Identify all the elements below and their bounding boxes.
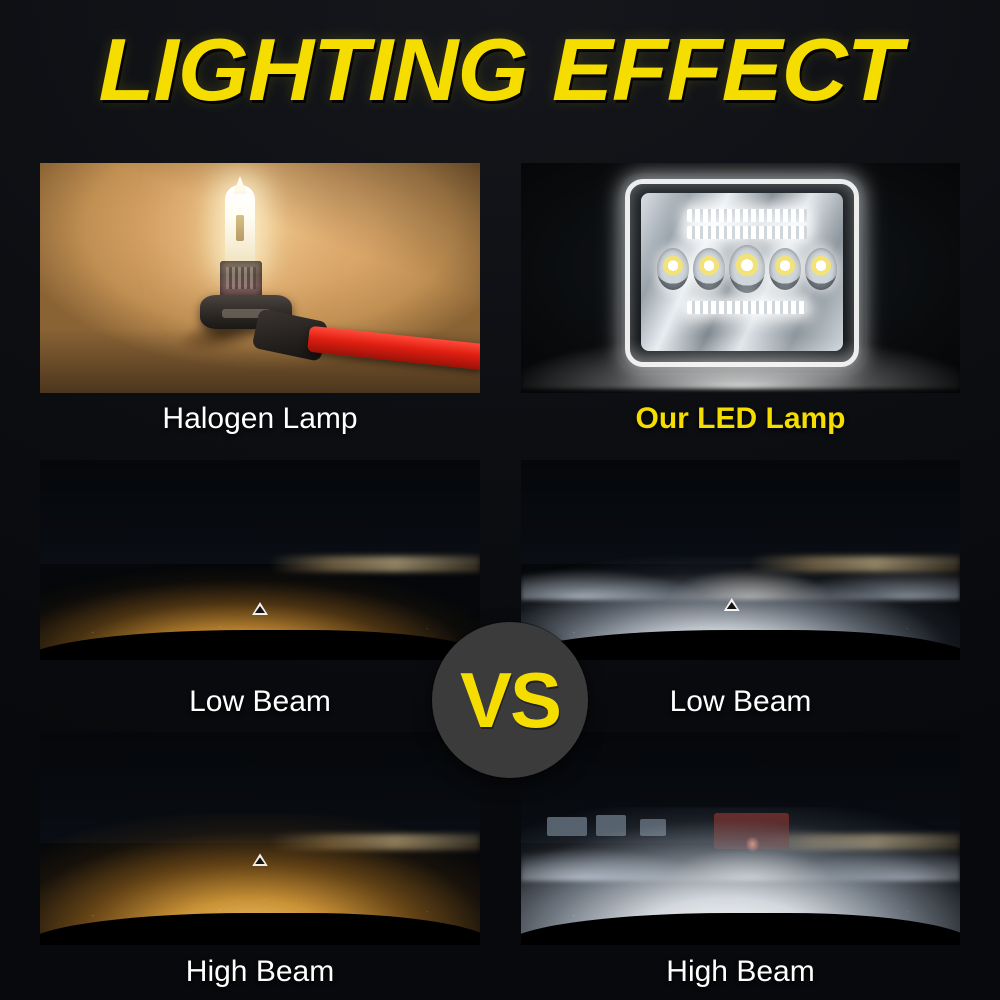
led-strip-top-2: [687, 226, 807, 239]
led-lens-1: [657, 248, 689, 290]
panel-halogen-low-beam-photo: [40, 460, 480, 660]
beam-reference-triangle-marker: [252, 602, 268, 615]
panel-led-low-beam-photo: [521, 460, 960, 660]
halogen-low-beam-image: [40, 460, 480, 660]
caption-halogen-high-beam: High Beam: [40, 955, 480, 989]
led-lamp-image: [521, 163, 960, 393]
page-title-container: LIGHTING EFFECT: [0, 24, 1000, 116]
night-sky: [521, 460, 960, 564]
caption-our-led-lamp: Our LED Lamp: [521, 402, 960, 436]
led-lens-3: [729, 245, 765, 293]
beam-reference-triangle-marker: [252, 853, 268, 866]
lighting-effect-infographic: LIGHTING EFFECT Halogen Lamp: [0, 0, 1000, 1000]
halogen-high-beam-image: [40, 732, 480, 945]
halogen-lamp-image: [40, 163, 480, 393]
led-lens-2: [693, 248, 725, 290]
led-low-beam-image: [521, 460, 960, 660]
panel-our-led-lamp-photo: [521, 163, 960, 393]
panel-led-high-beam-photo: [521, 732, 960, 945]
caption-halogen-low-beam: Low Beam: [40, 685, 480, 719]
panel-halogen-high-beam-photo: [40, 732, 480, 945]
vs-badge-label: VS: [460, 661, 560, 739]
led-reflector-face: [641, 193, 843, 351]
panel-halogen-lamp-photo: [40, 163, 480, 393]
beam-reference-triangle-marker: [724, 598, 740, 611]
led-high-beam-image: [521, 732, 960, 945]
led-projector-lens-row: [657, 248, 837, 293]
caption-halogen-lamp: Halogen Lamp: [40, 402, 480, 436]
led-lens-4: [769, 248, 801, 290]
vs-badge: VS: [432, 622, 588, 778]
led-light-spill: [521, 331, 960, 389]
led-strip-bottom: [687, 301, 807, 314]
page-title: LIGHTING EFFECT: [99, 28, 902, 112]
led-lens-5: [805, 248, 837, 290]
led-strip-top-1: [687, 209, 807, 222]
caption-led-high-beam: High Beam: [521, 955, 960, 989]
halogen-filament: [236, 215, 244, 241]
night-sky: [40, 460, 480, 564]
